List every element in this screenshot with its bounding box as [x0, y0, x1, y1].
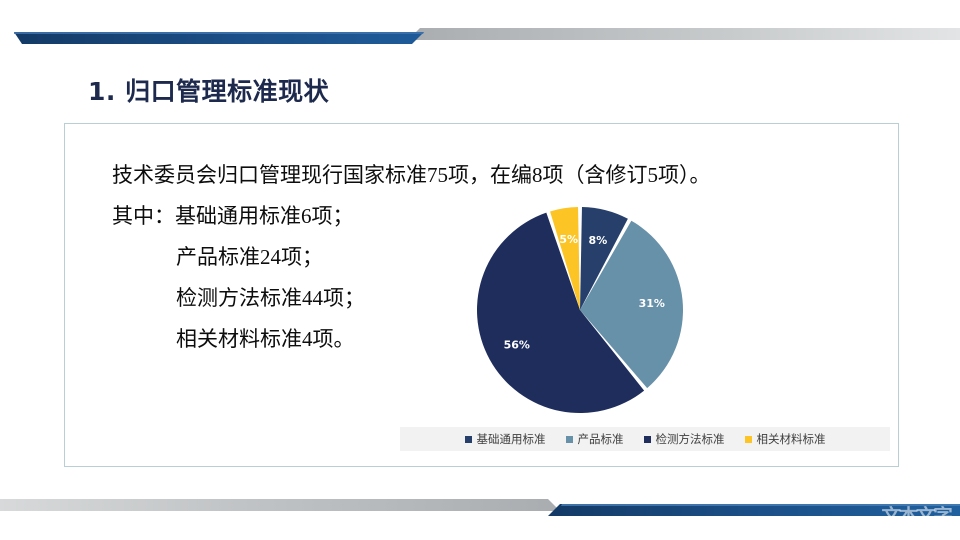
top-decoration	[0, 0, 960, 60]
bottom-gray-bar	[0, 499, 560, 511]
pie-svg: 8%31%56%5%	[475, 205, 685, 415]
pie-graphic: 8%31%56%5%	[475, 205, 685, 415]
top-gray-bar	[408, 28, 960, 40]
pie-data-label-1: 31%	[639, 297, 665, 310]
slide-canvas: 1. 归口管理标准现状 技术委员会归口管理现行国家标准75项，在编8项（含修订5…	[0, 0, 960, 540]
legend-label-2: 检测方法标准	[656, 431, 725, 447]
body-line-1: 技术委员会归口管理现行国家标准75项，在编8项（含修订5项）。	[112, 155, 552, 196]
pie-data-label-0: 8%	[589, 234, 608, 247]
legend-label-1: 产品标准	[578, 431, 624, 447]
legend-label-3: 相关材料标准	[757, 431, 826, 447]
pie-chart: 8%31%56%5% 基础通用标准 产品标准 检测方法标准 相关材料标准	[400, 205, 890, 460]
legend-swatch-2	[644, 436, 651, 443]
top-navy-highlight	[14, 32, 424, 34]
top-decoration-svg	[0, 0, 960, 60]
bottom-decoration: 文本文字	[0, 482, 960, 540]
bottom-navy-highlight	[561, 504, 960, 506]
legend-swatch-1	[566, 436, 573, 443]
pie-data-label-3: 5%	[559, 233, 578, 246]
pie-data-label-2: 56%	[504, 339, 530, 352]
page-title: 1. 归口管理标准现状	[88, 72, 329, 108]
legend-label-0: 基础通用标准	[477, 431, 546, 447]
legend-item-2[interactable]: 检测方法标准	[644, 431, 725, 447]
legend-item-0[interactable]: 基础通用标准	[465, 431, 546, 447]
legend-item-3[interactable]: 相关材料标准	[745, 431, 826, 447]
bottom-decoration-svg	[0, 482, 960, 540]
chart-legend: 基础通用标准 产品标准 检测方法标准 相关材料标准	[400, 427, 890, 451]
legend-item-1[interactable]: 产品标准	[566, 431, 624, 447]
legend-swatch-0	[465, 436, 472, 443]
legend-swatch-3	[745, 436, 752, 443]
